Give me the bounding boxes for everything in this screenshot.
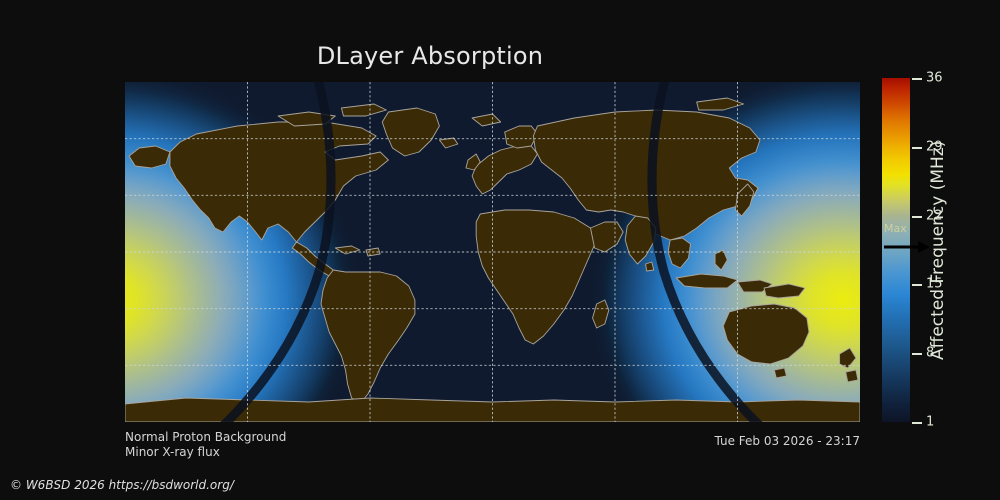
colorbar-tick-36 (912, 78, 922, 80)
colorbar-tick-15 (912, 284, 922, 286)
world-map[interactable] (125, 82, 860, 422)
copyright-text: © W6BSD 2026 https://bsdworld.org/ (10, 478, 234, 492)
proton-status-text: Normal Proton Background (125, 430, 286, 444)
map-canvas (125, 82, 860, 422)
colorbar-tick-1 (912, 422, 922, 424)
page-title: DLayer Absorption (0, 42, 860, 70)
xray-status-text: Minor X-ray flux (125, 445, 220, 459)
colorbar-tick-8 (912, 353, 922, 355)
colorbar-axis-title: Affected Frequency (MHz) (926, 78, 950, 422)
dlayer-absorption-map-page: DLayer Absorption (0, 0, 1000, 500)
colorbar-tick-22 (912, 216, 922, 218)
colorbar-gradient (882, 78, 910, 422)
colorbar[interactable]: 36 29 22 15 8 1 Max (882, 78, 910, 422)
timestamp-text: Tue Feb 03 2026 - 23:17 (714, 434, 860, 448)
colorbar-tick-29 (912, 147, 922, 149)
